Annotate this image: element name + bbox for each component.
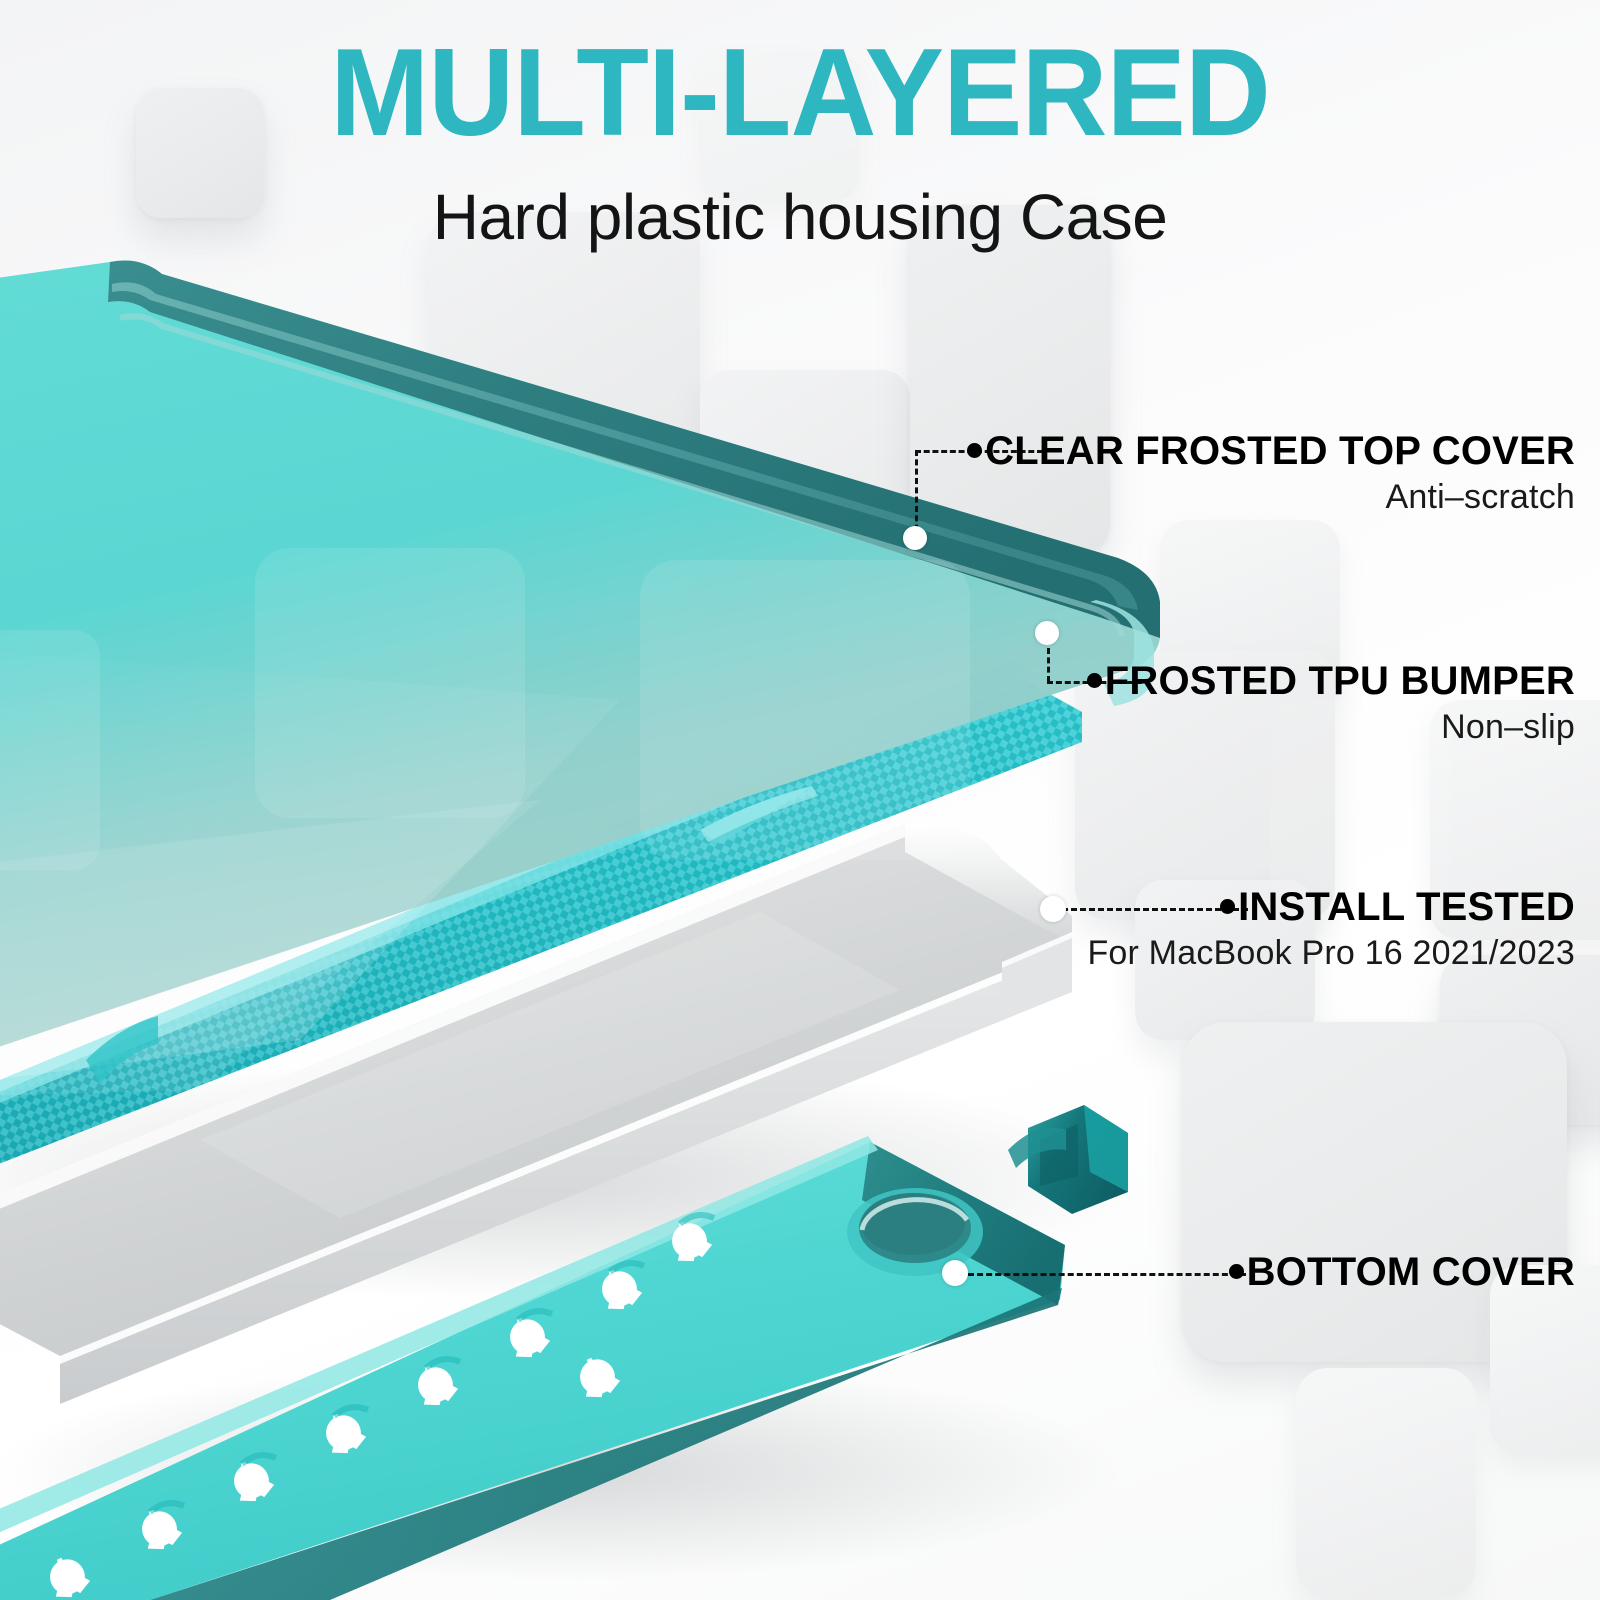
callout-title: CLEAR FROSTED TOP COVER — [967, 430, 1575, 472]
callout-subtitle: Non–slip — [1087, 708, 1575, 747]
callout-title-text: BOTTOM COVER — [1247, 1250, 1575, 1294]
marker-dot-clear-frosted-top-cover — [903, 526, 927, 550]
page-subtitle: Hard plastic housing Case — [0, 180, 1600, 254]
callout-install-tested: INSTALL TESTED For MacBook Pro 16 2021/2… — [1087, 886, 1575, 973]
bullet-icon — [1229, 1264, 1244, 1279]
callout-title-text: CLEAR FROSTED TOP COVER — [985, 429, 1575, 473]
marker-dot-frosted-tpu-bumper — [1035, 621, 1059, 645]
bullet-icon — [967, 443, 982, 458]
callout-title-text: FROSTED TPU BUMPER — [1105, 659, 1575, 703]
infographic-canvas: MULTI-LAYERED Hard plastic housing Case — [0, 0, 1600, 1600]
callout-clear-frosted-top-cover: CLEAR FROSTED TOP COVER Anti–scratch — [967, 430, 1575, 517]
callout-subtitle: For MacBook Pro 16 2021/2023 — [1087, 934, 1575, 973]
callout-frosted-tpu-bumper: FROSTED TPU BUMPER Non–slip — [1087, 660, 1575, 747]
callout-title: INSTALL TESTED — [1087, 886, 1575, 928]
callout-title-text: INSTALL TESTED — [1238, 885, 1575, 929]
callout-subtitle: Anti–scratch — [967, 478, 1575, 517]
marker-dot-install-tested — [1040, 896, 1066, 922]
callout-title: BOTTOM COVER — [1229, 1251, 1575, 1293]
bullet-icon — [1087, 673, 1102, 688]
marker-dot-bottom-cover — [942, 1260, 968, 1286]
callout-title: FROSTED TPU BUMPER — [1087, 660, 1575, 702]
bullet-icon — [1220, 899, 1235, 914]
page-title: MULTI-LAYERED — [32, 30, 1568, 156]
callout-bottom-cover: BOTTOM COVER — [1229, 1251, 1575, 1293]
header-block: MULTI-LAYERED Hard plastic housing Case — [0, 30, 1600, 254]
